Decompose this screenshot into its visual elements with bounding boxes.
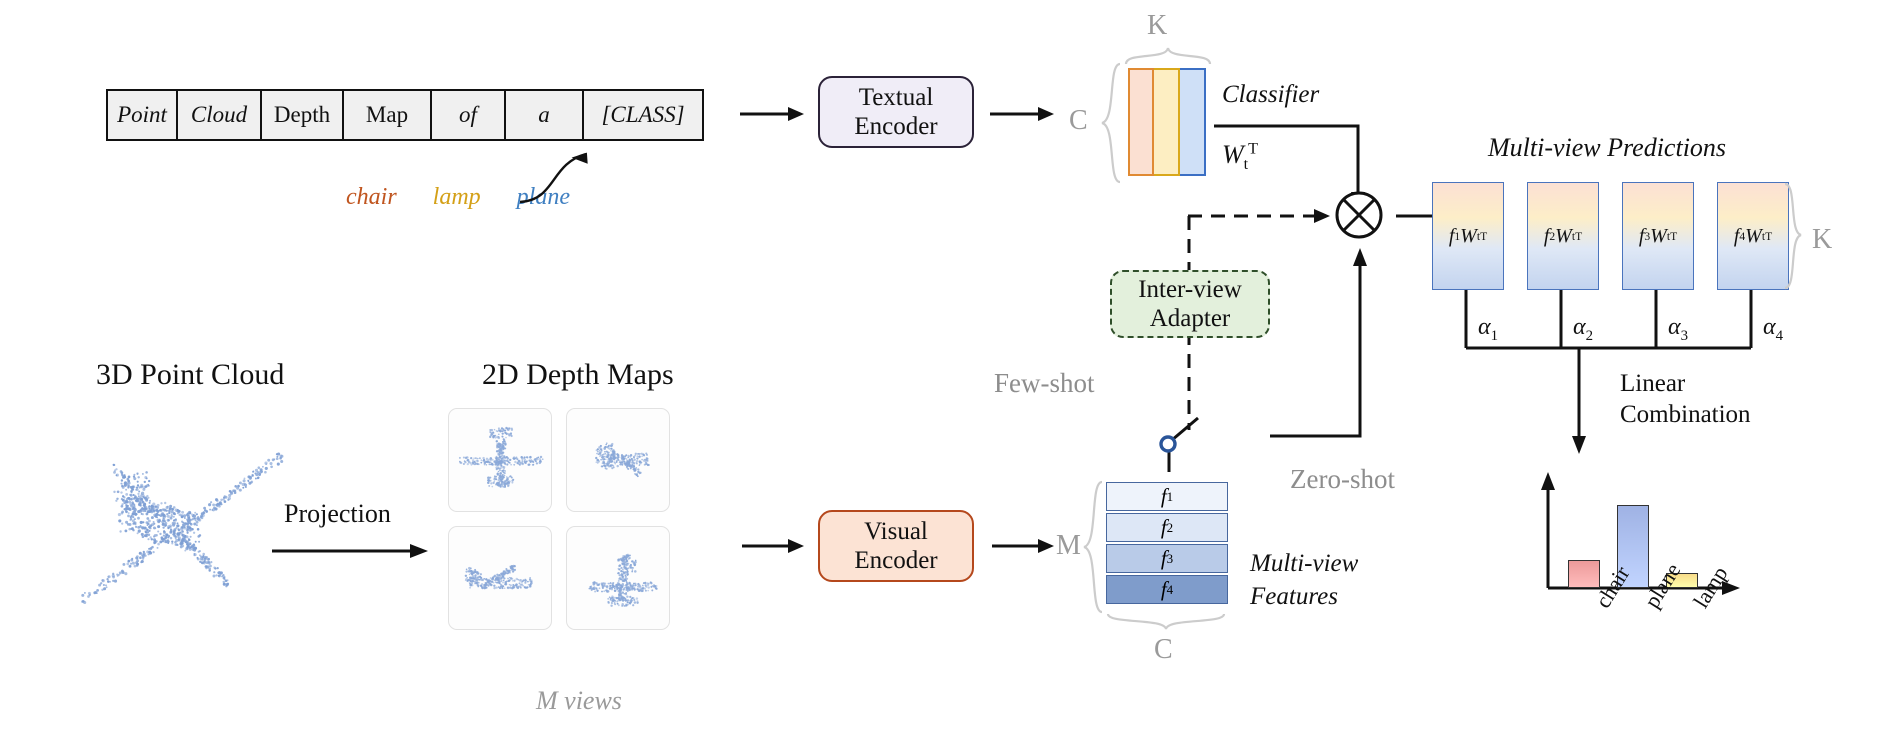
textual-encoder-box[interactable]: Textual Encoder (818, 76, 974, 148)
classifier-label: Classifier (1222, 81, 1319, 109)
prompt-token-row: PointCloudDepthMapofa[CLASS] (106, 89, 704, 141)
few-shot-label: Few-shot (994, 368, 1095, 399)
depth-map-view-2[interactable] (566, 408, 670, 512)
alpha-label-2: α2 (1573, 314, 1593, 345)
feature-row-f2: f2 (1106, 513, 1228, 542)
point-cloud-visual (66, 430, 296, 610)
mode-switch-toggle[interactable] (1150, 414, 1230, 474)
m-views-label: M views (536, 686, 622, 716)
multi-view-feature-stack: f1f2f3f4 (1106, 482, 1228, 606)
features-C-brace-icon (1106, 612, 1228, 632)
depth-map-view-1[interactable] (448, 408, 552, 512)
projection-label: Projection (284, 498, 391, 531)
feature-row-f3: f3 (1106, 544, 1228, 573)
classifier-dim-cols-label: K (1147, 10, 1167, 42)
predictions-dim-K-label: K (1812, 224, 1832, 256)
class-word-lamp[interactable]: lamp (433, 184, 481, 211)
prompt-token-5[interactable]: a (506, 91, 584, 139)
feature-row-f4: f4 (1106, 575, 1228, 604)
prompt-token-1[interactable]: Cloud (178, 91, 262, 139)
connector-zeroshot-to-operator (1222, 240, 1402, 440)
alpha-label-3: α3 (1668, 314, 1688, 345)
predictions-K-brace-icon (1783, 182, 1805, 292)
bar-chart-category-labels: chairplanelamp (1530, 595, 1770, 665)
classifier-cols-brace-icon (1124, 44, 1212, 66)
multi-view-features-line2: Features (1250, 581, 1358, 614)
diagram-canvas: PointCloudDepthMapofa[CLASS] chairlamppl… (0, 0, 1882, 746)
classifier-column-plane (1180, 68, 1206, 176)
zero-shot-label: Zero-shot (1290, 464, 1395, 495)
visual-encoder-box[interactable]: Visual Encoder (818, 510, 974, 582)
features-dim-M-label: M (1056, 530, 1081, 562)
prompt-token-3[interactable]: Map (344, 91, 432, 139)
visual-encoder-line1: Visual (864, 517, 928, 547)
depth-map-view-4[interactable] (566, 526, 670, 630)
depth-map-points-3 (449, 527, 552, 630)
prompt-token-6[interactable]: [CLASS] (584, 91, 702, 139)
arrow-visual-encoder-to-features (992, 535, 1058, 557)
arrow-prompt-to-textual-encoder (740, 103, 806, 125)
feature-row-f1: f1 (1106, 482, 1228, 511)
features-M-brace-icon (1082, 480, 1104, 614)
alpha-label-4: α4 (1763, 314, 1783, 345)
textual-encoder-line2: Encoder (854, 112, 937, 142)
prediction-box-3: f3WtT (1622, 182, 1694, 290)
prediction-box-1: f1WtT (1432, 182, 1504, 290)
multi-view-prediction-boxes: f1WtTf2WtTf3WtTf4WtT (1432, 182, 1789, 290)
alpha-label-1: α1 (1478, 314, 1498, 345)
classifier-column-lamp (1154, 68, 1180, 176)
arrow-textual-encoder-to-classifier (990, 103, 1056, 125)
point-cloud-heading: 3D Point Cloud (96, 358, 284, 392)
tensor-product-operator-icon (1332, 188, 1386, 242)
depth-map-view-3[interactable] (448, 526, 552, 630)
textual-encoder-line1: Textual (859, 83, 934, 113)
depth-map-grid (448, 408, 670, 630)
prompt-token-2[interactable]: Depth (262, 91, 344, 139)
arrow-linear-combination (1566, 348, 1592, 458)
prompt-token-0[interactable]: Point (108, 91, 178, 139)
depth-maps-heading: 2D Depth Maps (482, 358, 674, 392)
classifier-rows-brace-icon (1098, 62, 1122, 184)
features-dim-C-label: C (1154, 634, 1173, 666)
class-curve-arrow-icon (516, 140, 626, 210)
multi-view-features-line1: Multi-view (1250, 548, 1358, 581)
bar-chair (1568, 560, 1600, 588)
visual-encoder-line2: Encoder (854, 546, 937, 576)
arrow-projection (272, 540, 432, 562)
prediction-box-2: f2WtT (1527, 182, 1599, 290)
multi-view-predictions-label: Multi-view Predictions (1488, 133, 1726, 163)
linear-combination-line1: Linear (1620, 368, 1751, 399)
adapter-line2: Adapter (1150, 304, 1231, 334)
prompt-token-4[interactable]: of (432, 91, 506, 139)
classifier-dim-rows-label: C (1069, 105, 1088, 137)
depth-map-points-1 (449, 409, 552, 512)
depth-map-points-4 (567, 527, 670, 630)
multi-view-features-label: Multi-view Features (1250, 548, 1358, 613)
dashed-arrow-adapter-to-operator (1188, 205, 1334, 227)
linear-combination-line2: Combination (1620, 399, 1751, 430)
linear-combination-label: Linear Combination (1620, 368, 1751, 431)
prediction-box-4: f4WtT (1717, 182, 1789, 290)
depth-map-points-2 (567, 409, 670, 512)
classifier-column-chair (1128, 68, 1154, 176)
class-word-chair[interactable]: chair (346, 184, 397, 211)
arrow-depthmaps-to-visual-encoder (742, 535, 808, 557)
classifier-matrix (1128, 68, 1206, 176)
